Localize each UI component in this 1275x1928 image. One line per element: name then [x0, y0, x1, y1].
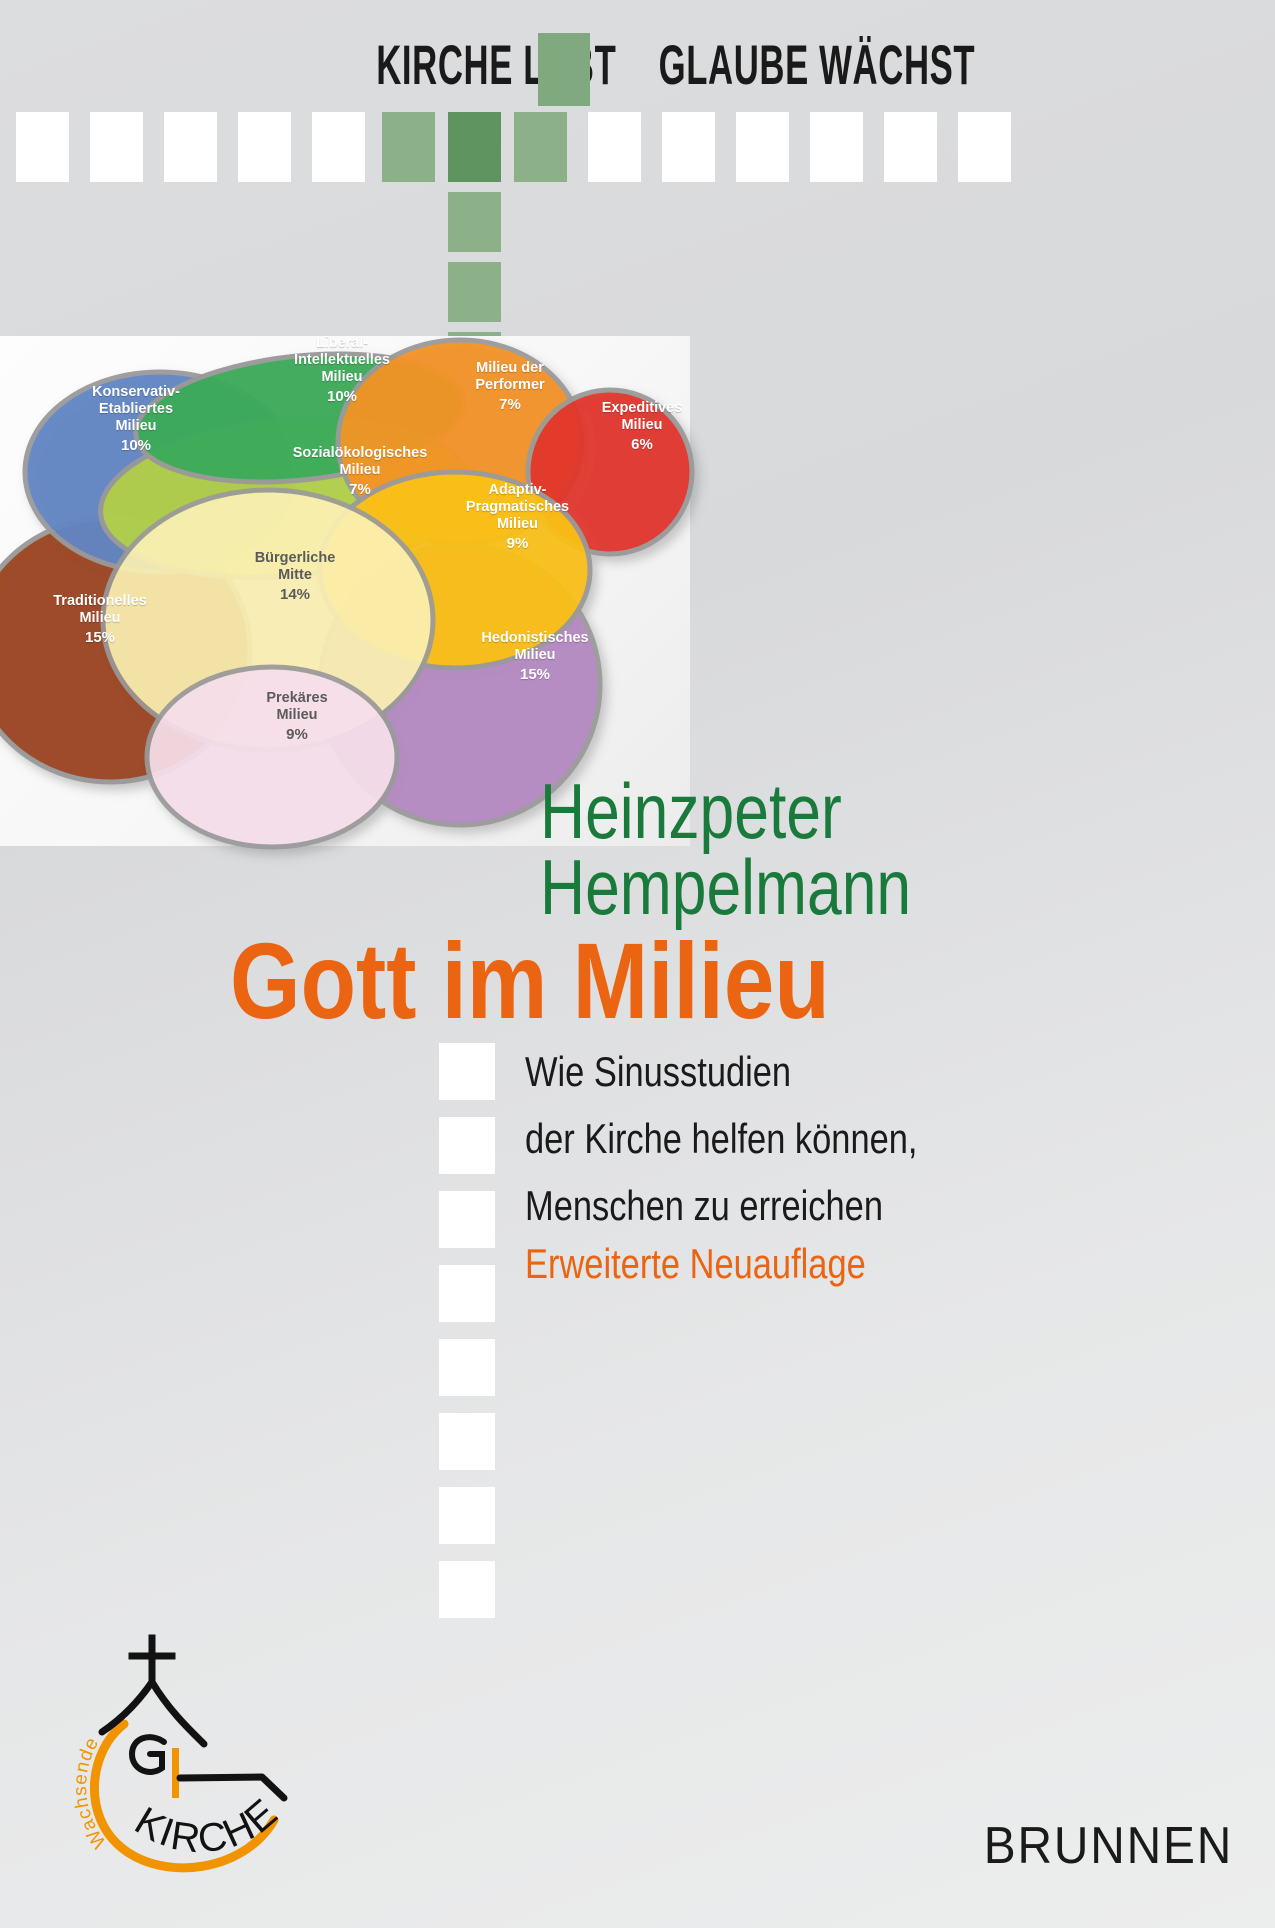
subtitle-square: [439, 1561, 495, 1618]
strip-square: [16, 112, 69, 182]
vertical-green-block: [448, 262, 501, 322]
logo-g-glyph: [132, 1737, 164, 1772]
strip-square: [312, 112, 365, 182]
vertical-green-block: [448, 192, 501, 252]
strip-square-green-dark: [448, 112, 501, 182]
strip-square: [164, 112, 217, 182]
strip-square-green-light: [382, 112, 435, 182]
subtitle-square: [439, 1487, 495, 1544]
subtitle-square: [439, 1413, 495, 1470]
edition-note: Erweiterte Neuauflage: [525, 1243, 866, 1285]
strip-square: [90, 112, 143, 182]
book-cover: KIRCHE LEBT GLAUBE WÄCHST: [0, 0, 1275, 1928]
strip-square: [958, 112, 1011, 182]
series-banner-right: GLAUBE WÄCHST: [638, 32, 1033, 97]
milieu-shape-prekaeres: [147, 667, 397, 847]
logo-cross-icon: [132, 1638, 172, 1682]
strip-square: [810, 112, 863, 182]
strip-square: [238, 112, 291, 182]
author-first-name: Heinzpeter: [540, 772, 842, 850]
subtitle-square: [439, 1043, 495, 1100]
wachsende-kirche-logo: Wachsende KIRCHE: [52, 1620, 312, 1880]
logo-orange-bar: [172, 1748, 179, 1798]
publisher-name: BRUNNEN: [984, 1816, 1233, 1876]
logo-beam: [180, 1777, 284, 1798]
strip-square: [588, 112, 641, 182]
subtitle-line-1: Wie Sinusstudien: [525, 1051, 791, 1093]
logo-kirche-word: KIRCHE: [127, 1790, 286, 1862]
strip-square: [736, 112, 789, 182]
subtitle-line-2: der Kirche helfen können,: [525, 1118, 917, 1160]
square-strip: [0, 112, 1275, 182]
banner-green-block: [538, 33, 590, 106]
subtitle-square: [439, 1117, 495, 1174]
subtitle-square: [439, 1191, 495, 1248]
strip-square: [884, 112, 937, 182]
subtitle-line-3: Menschen zu erreichen: [525, 1185, 883, 1227]
book-title: Gott im Milieu: [230, 927, 830, 1035]
strip-square-green-light: [514, 112, 567, 182]
subtitle-square: [439, 1265, 495, 1322]
logo-roof-right: [152, 1682, 204, 1744]
series-banner: KIRCHE LEBT GLAUBE WÄCHST: [242, 32, 1033, 97]
subtitle-square: [439, 1339, 495, 1396]
strip-square: [662, 112, 715, 182]
author-last-name: Hempelmann: [540, 848, 911, 926]
